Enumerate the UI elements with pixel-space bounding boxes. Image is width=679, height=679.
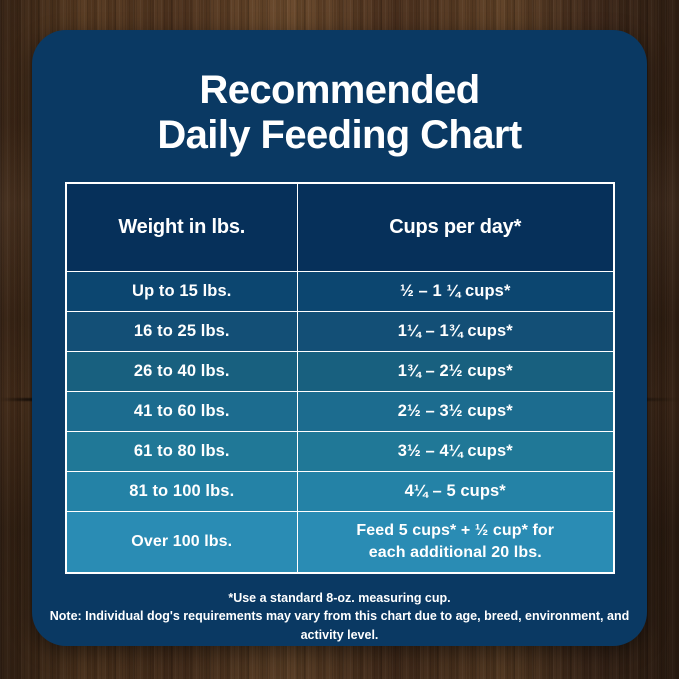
table-row: Over 100 lbs.Feed 5 cups* + ½ cup* forea… — [66, 512, 614, 573]
page-title-line-2: Daily Feeding Chart — [56, 113, 623, 158]
cell-cups-line-2: each additional 20 lbs. — [298, 542, 613, 564]
table-row: 81 to 100 lbs.4¼ – 5 cups* — [66, 472, 614, 512]
footnote-note-line-1: Note: Individual dog's requirements may … — [48, 607, 631, 645]
table-row: 61 to 80 lbs.3½ – 4¼ cups* — [66, 432, 614, 472]
cell-cups: 1¼ – 1¾ cups* — [298, 312, 614, 352]
feeding-chart-card: Recommended Daily Feeding Chart Weight i… — [32, 30, 647, 646]
cell-cups: 4¼ – 5 cups* — [298, 472, 614, 512]
footnotes: *Use a standard 8-oz. measuring cup. Not… — [32, 589, 647, 646]
feeding-chart-table: Weight in lbs. Cups per day* Up to 15 lb… — [65, 182, 615, 574]
cell-cups: 2½ – 3½ cups* — [298, 392, 614, 432]
cell-weight: 61 to 80 lbs. — [66, 432, 298, 472]
cell-weight: Over 100 lbs. — [66, 512, 298, 573]
footnote-measuring-cup: *Use a standard 8-oz. measuring cup. — [48, 589, 631, 608]
column-header-weight: Weight in lbs. — [66, 183, 298, 272]
cell-cups: ½ – 1 ¼ cups* — [298, 272, 614, 312]
cell-weight: 41 to 60 lbs. — [66, 392, 298, 432]
table-header-row: Weight in lbs. Cups per day* — [66, 183, 614, 272]
table-row: 41 to 60 lbs.2½ – 3½ cups* — [66, 392, 614, 432]
table-body: Up to 15 lbs.½ – 1 ¼ cups*16 to 25 lbs.1… — [66, 272, 614, 573]
table-row: 16 to 25 lbs.1¼ – 1¾ cups* — [66, 312, 614, 352]
cell-cups-line-1: Feed 5 cups* + ½ cup* for — [298, 520, 613, 542]
footnote-note-line-2: Adjust food as required to maintain opti… — [48, 645, 631, 646]
cell-cups: 3½ – 4¼ cups* — [298, 432, 614, 472]
table-row: Up to 15 lbs.½ – 1 ¼ cups* — [66, 272, 614, 312]
cell-cups: 1¾ – 2½ cups* — [298, 352, 614, 392]
cell-weight: 26 to 40 lbs. — [66, 352, 298, 392]
cell-cups: Feed 5 cups* + ½ cup* foreach additional… — [298, 512, 614, 573]
table-row: 26 to 40 lbs.1¾ – 2½ cups* — [66, 352, 614, 392]
column-header-cups: Cups per day* — [298, 183, 614, 272]
table-header: Weight in lbs. Cups per day* — [66, 183, 614, 272]
cell-weight: 81 to 100 lbs. — [66, 472, 298, 512]
cell-weight: 16 to 25 lbs. — [66, 312, 298, 352]
cell-weight: Up to 15 lbs. — [66, 272, 298, 312]
page-title: Recommended Daily Feeding Chart — [32, 68, 647, 158]
page-title-line-1: Recommended — [56, 68, 623, 113]
